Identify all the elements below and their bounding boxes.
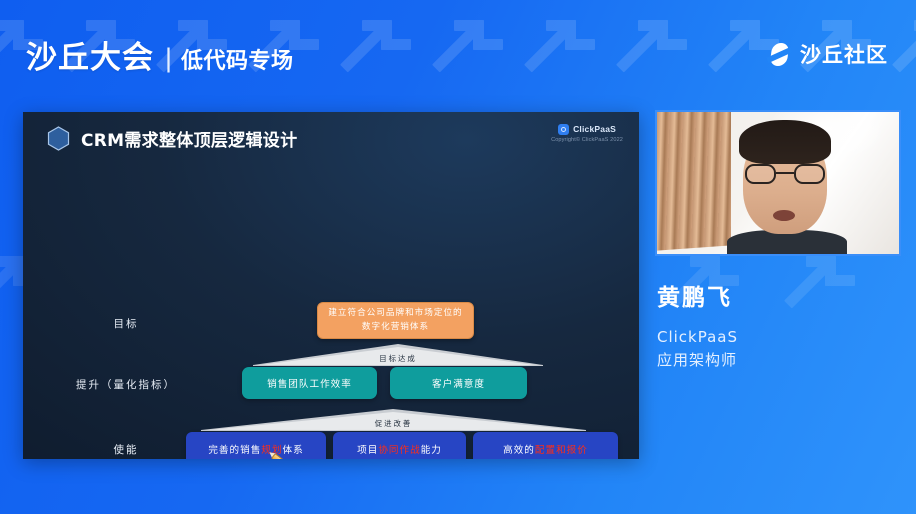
cam-window-blinds (657, 110, 731, 251)
title-divider: | (165, 43, 172, 74)
speaker-info: 黄鹏飞 ClickPaaS 应用架构师 (657, 278, 907, 373)
enabler-text-highlight: 协同作战 (378, 442, 420, 456)
chevron-label: 目标达成 (253, 353, 543, 364)
enabler-text-prefix: 完善的销售 (208, 442, 261, 456)
clickpaas-logo-icon (558, 124, 569, 135)
slide-title: CRM需求整体顶层逻辑设计 (81, 126, 297, 151)
chevron-band-goal-achieved: 目标达成 (253, 344, 543, 366)
enabler-box-2: 项目协同作战能力 (333, 432, 466, 459)
glasses-lens-left (745, 164, 776, 184)
event-track-title: 低代码专场 (181, 43, 294, 75)
speaker-company: ClickPaaS (657, 326, 907, 349)
chevron-label: 促进改善 (201, 418, 586, 429)
hexagon-icon (45, 125, 72, 152)
row-label-metrics: 提升（量化指标） (51, 377, 201, 392)
shaqiu-s-mark-icon (767, 42, 792, 67)
enabler-text-prefix: 高效的 (503, 442, 535, 456)
slide-title-row: CRM需求整体顶层逻辑设计 (45, 125, 297, 152)
enabler-text-highlight: 配置和报价 (535, 442, 588, 456)
event-branding: 沙丘大会 | 低代码专场 (26, 32, 294, 77)
goal-box: 建立符合公司品牌和市场定位的数字化营销体系 (317, 302, 474, 339)
vendor-copyright: Copyright© ClickPaaS 2022 (551, 137, 623, 144)
vendor-name: ClickPaaS (573, 124, 616, 135)
enabler-text-prefix: 项目 (357, 442, 378, 456)
vendor-logo: ClickPaaS Copyright© ClickPaaS 2022 (551, 124, 623, 144)
row-label-enable: 使能 (51, 442, 201, 457)
organizer-logo: 沙丘社区 (767, 39, 888, 69)
glasses-lens-right (794, 164, 825, 184)
event-header: 沙丘大会 | 低代码专场 沙丘社区 (0, 0, 916, 108)
speaker-role: 应用架构师 (657, 349, 907, 372)
glasses-bridge (776, 172, 794, 174)
enabler-box-1: 完善的销售规划体系 (186, 432, 326, 459)
event-title: 沙丘大会 (26, 32, 154, 77)
row-label-goal: 目标 (51, 316, 201, 331)
organizer-name: 沙丘社区 (800, 39, 888, 69)
speaker-name: 黄鹏飞 (657, 278, 907, 312)
cam-person-glasses (745, 164, 825, 184)
presentation-slide: CRM需求整体顶层逻辑设计 ClickPaaS Copyright© Click… (23, 112, 639, 459)
cam-person-mouth (773, 210, 795, 221)
cam-person-hair (739, 120, 831, 164)
metric-box-2: 客户满意度 (390, 367, 527, 399)
speaker-webcam[interactable] (655, 110, 901, 256)
enabler-text-suffix: 能力 (421, 442, 442, 456)
metric-box-1: 销售团队工作效率 (242, 367, 377, 399)
chevron-band-promote-improve: 促进改善 (201, 409, 586, 431)
enabler-text-suffix: 体系 (282, 442, 303, 456)
enabler-box-3: 高效的配置和报价 (473, 432, 618, 459)
